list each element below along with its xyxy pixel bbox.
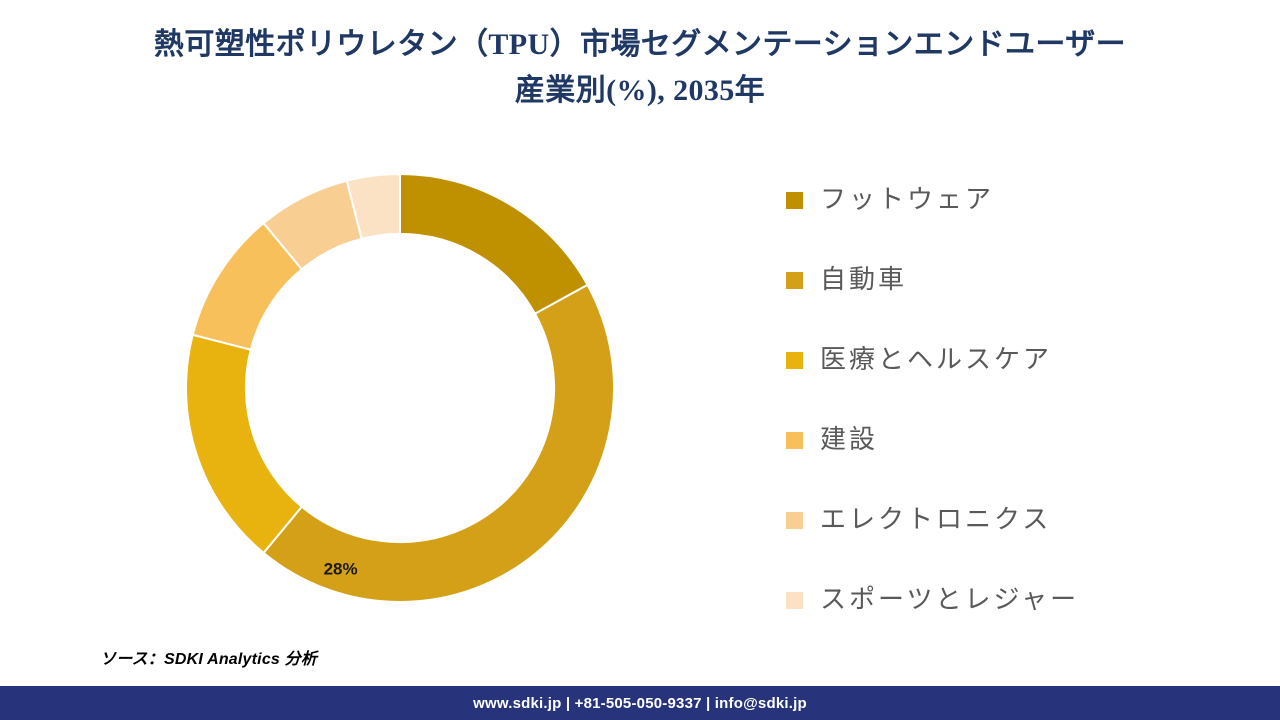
source-note: ソース：SDKI Analytics 分析 [100,645,317,669]
legend-label: スポーツとレジャー [820,587,1079,613]
legend-item-electronics[interactable]: エレクトロニクス [786,480,1246,560]
title-block: 熱可塑性ポリウレタン（TPU）市場セグメンテーションエンドユーザー 産業別(%)… [40,22,1240,113]
legend-swatch-icon [786,352,803,369]
legend-item-footwear[interactable]: フットウェア [786,160,1246,240]
legend-swatch-icon [786,512,803,529]
legend-swatch-icon [786,432,803,449]
page-title: 熱可塑性ポリウレタン（TPU）市場セグメンテーションエンドユーザー 産業別(%)… [40,22,1240,113]
legend-swatch-icon [786,192,803,209]
donut-slice[interactable] [264,285,614,602]
legend-label: 医療とヘルスケア [820,347,1052,373]
chart-legend: フットウェア 自動車 医療とヘルスケア 建設 エレクトロニクス スポーツとレジャ… [786,160,1246,640]
legend-swatch-icon [786,272,803,289]
donut-slice[interactable] [186,335,302,553]
donut-slice[interactable] [400,174,588,314]
slide-canvas: 熱可塑性ポリウレタン（TPU）市場セグメンテーションエンドユーザー 産業別(%)… [0,0,1280,720]
legend-label: フットウェア [820,187,994,213]
legend-item-medical-healthcare[interactable]: 医療とヘルスケア [786,320,1246,400]
donut-chart-svg: 28% [186,174,614,602]
donut-slice-group [186,174,614,602]
donut-chart: 28% [186,174,614,602]
legend-label: エレクトロニクス [820,507,1051,533]
legend-label: 自動車 [820,267,907,293]
slice-data-label: 28% [324,560,358,579]
legend-label: 建設 [820,427,878,453]
legend-item-construction[interactable]: 建設 [786,400,1246,480]
footer-bar: www.sdki.jp | +81-505-050-9337 | info@sd… [0,686,1280,720]
legend-item-sports-leisure[interactable]: スポーツとレジャー [786,560,1246,640]
legend-swatch-icon [786,592,803,609]
legend-item-automotive[interactable]: 自動車 [786,240,1246,320]
footer-contact-text: www.sdki.jp | +81-505-050-9337 | info@sd… [473,695,807,712]
